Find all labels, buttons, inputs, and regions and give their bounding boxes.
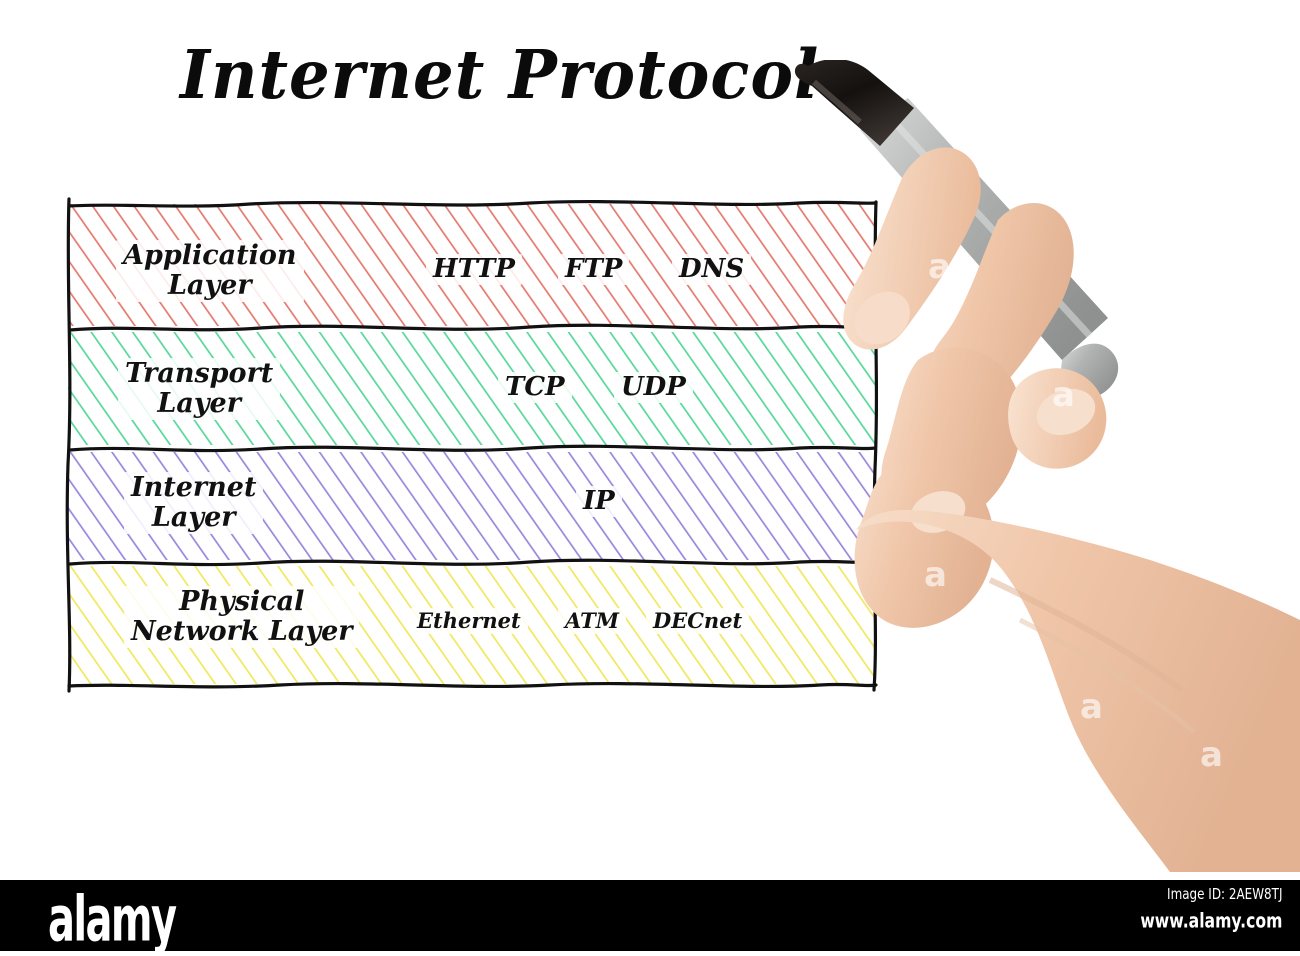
layer-name-line2: Layer <box>131 503 256 533</box>
layer-application-name: Application Layer <box>116 240 304 302</box>
layer-application: Application Layer HTTP FTP DNS <box>68 202 876 328</box>
layer-physical-network-name: Physical Network Layer <box>124 586 359 648</box>
layer-name-line2: Layer <box>125 389 273 419</box>
alamy-watermark: a <box>1208 872 1231 880</box>
layer-name-line1: Transport <box>125 358 273 389</box>
page-title: Internet Protocol <box>180 42 819 110</box>
layer-name-line2: Network Layer <box>131 617 352 647</box>
protocol-tcp: TCP <box>498 372 572 403</box>
layer-internet-name: Internet Layer <box>124 472 263 534</box>
image-id-label: Image ID: 2AEW8TJ <box>1167 886 1282 904</box>
layer-name-line1: Application <box>123 240 297 271</box>
protocol-http: HTTP <box>426 254 522 285</box>
little-finger <box>855 462 994 628</box>
alamy-url-label[interactable]: www.alamy.com <box>1140 910 1282 934</box>
hand-illustration <box>790 60 1300 880</box>
alamy-footer-bar: alamy Image ID: 2AEW8TJ www.alamy.com <box>0 880 1300 951</box>
alamy-watermark: a <box>928 250 951 284</box>
protocol-dns: DNS <box>672 254 751 285</box>
layer-transport-name: Transport Layer <box>118 358 280 420</box>
image-canvas: Internet Protocol Application Layer HTTP… <box>0 0 1300 880</box>
hand-with-marker: a a a a a a <box>790 60 1300 880</box>
protocol-ethernet: Ethernet <box>410 608 528 634</box>
alamy-watermark: a <box>1080 690 1103 724</box>
layer-name-line2: Layer <box>123 271 297 301</box>
alamy-watermark: a <box>924 558 947 592</box>
alamy-watermark: a <box>1200 738 1223 772</box>
layer-name-line1: Internet <box>131 472 256 503</box>
alamy-watermark: a <box>1052 378 1075 412</box>
layer-name-line1: Physical <box>179 586 304 617</box>
internet-protocol-diagram: Application Layer HTTP FTP DNS Transport… <box>68 202 876 686</box>
protocol-ftp: FTP <box>558 254 629 285</box>
protocol-ip: IP <box>576 486 622 517</box>
layer-internet: Internet Layer IP <box>68 450 876 562</box>
protocol-decnet: DECnet <box>646 608 749 634</box>
layer-transport: Transport Layer TCP UDP <box>68 330 876 447</box>
layer-physical-network: Physical Network Layer Ethernet ATM DECn… <box>68 564 876 686</box>
protocol-atm: ATM <box>558 608 626 634</box>
protocol-udp: UDP <box>614 372 693 403</box>
alamy-logo: alamy <box>48 888 175 951</box>
